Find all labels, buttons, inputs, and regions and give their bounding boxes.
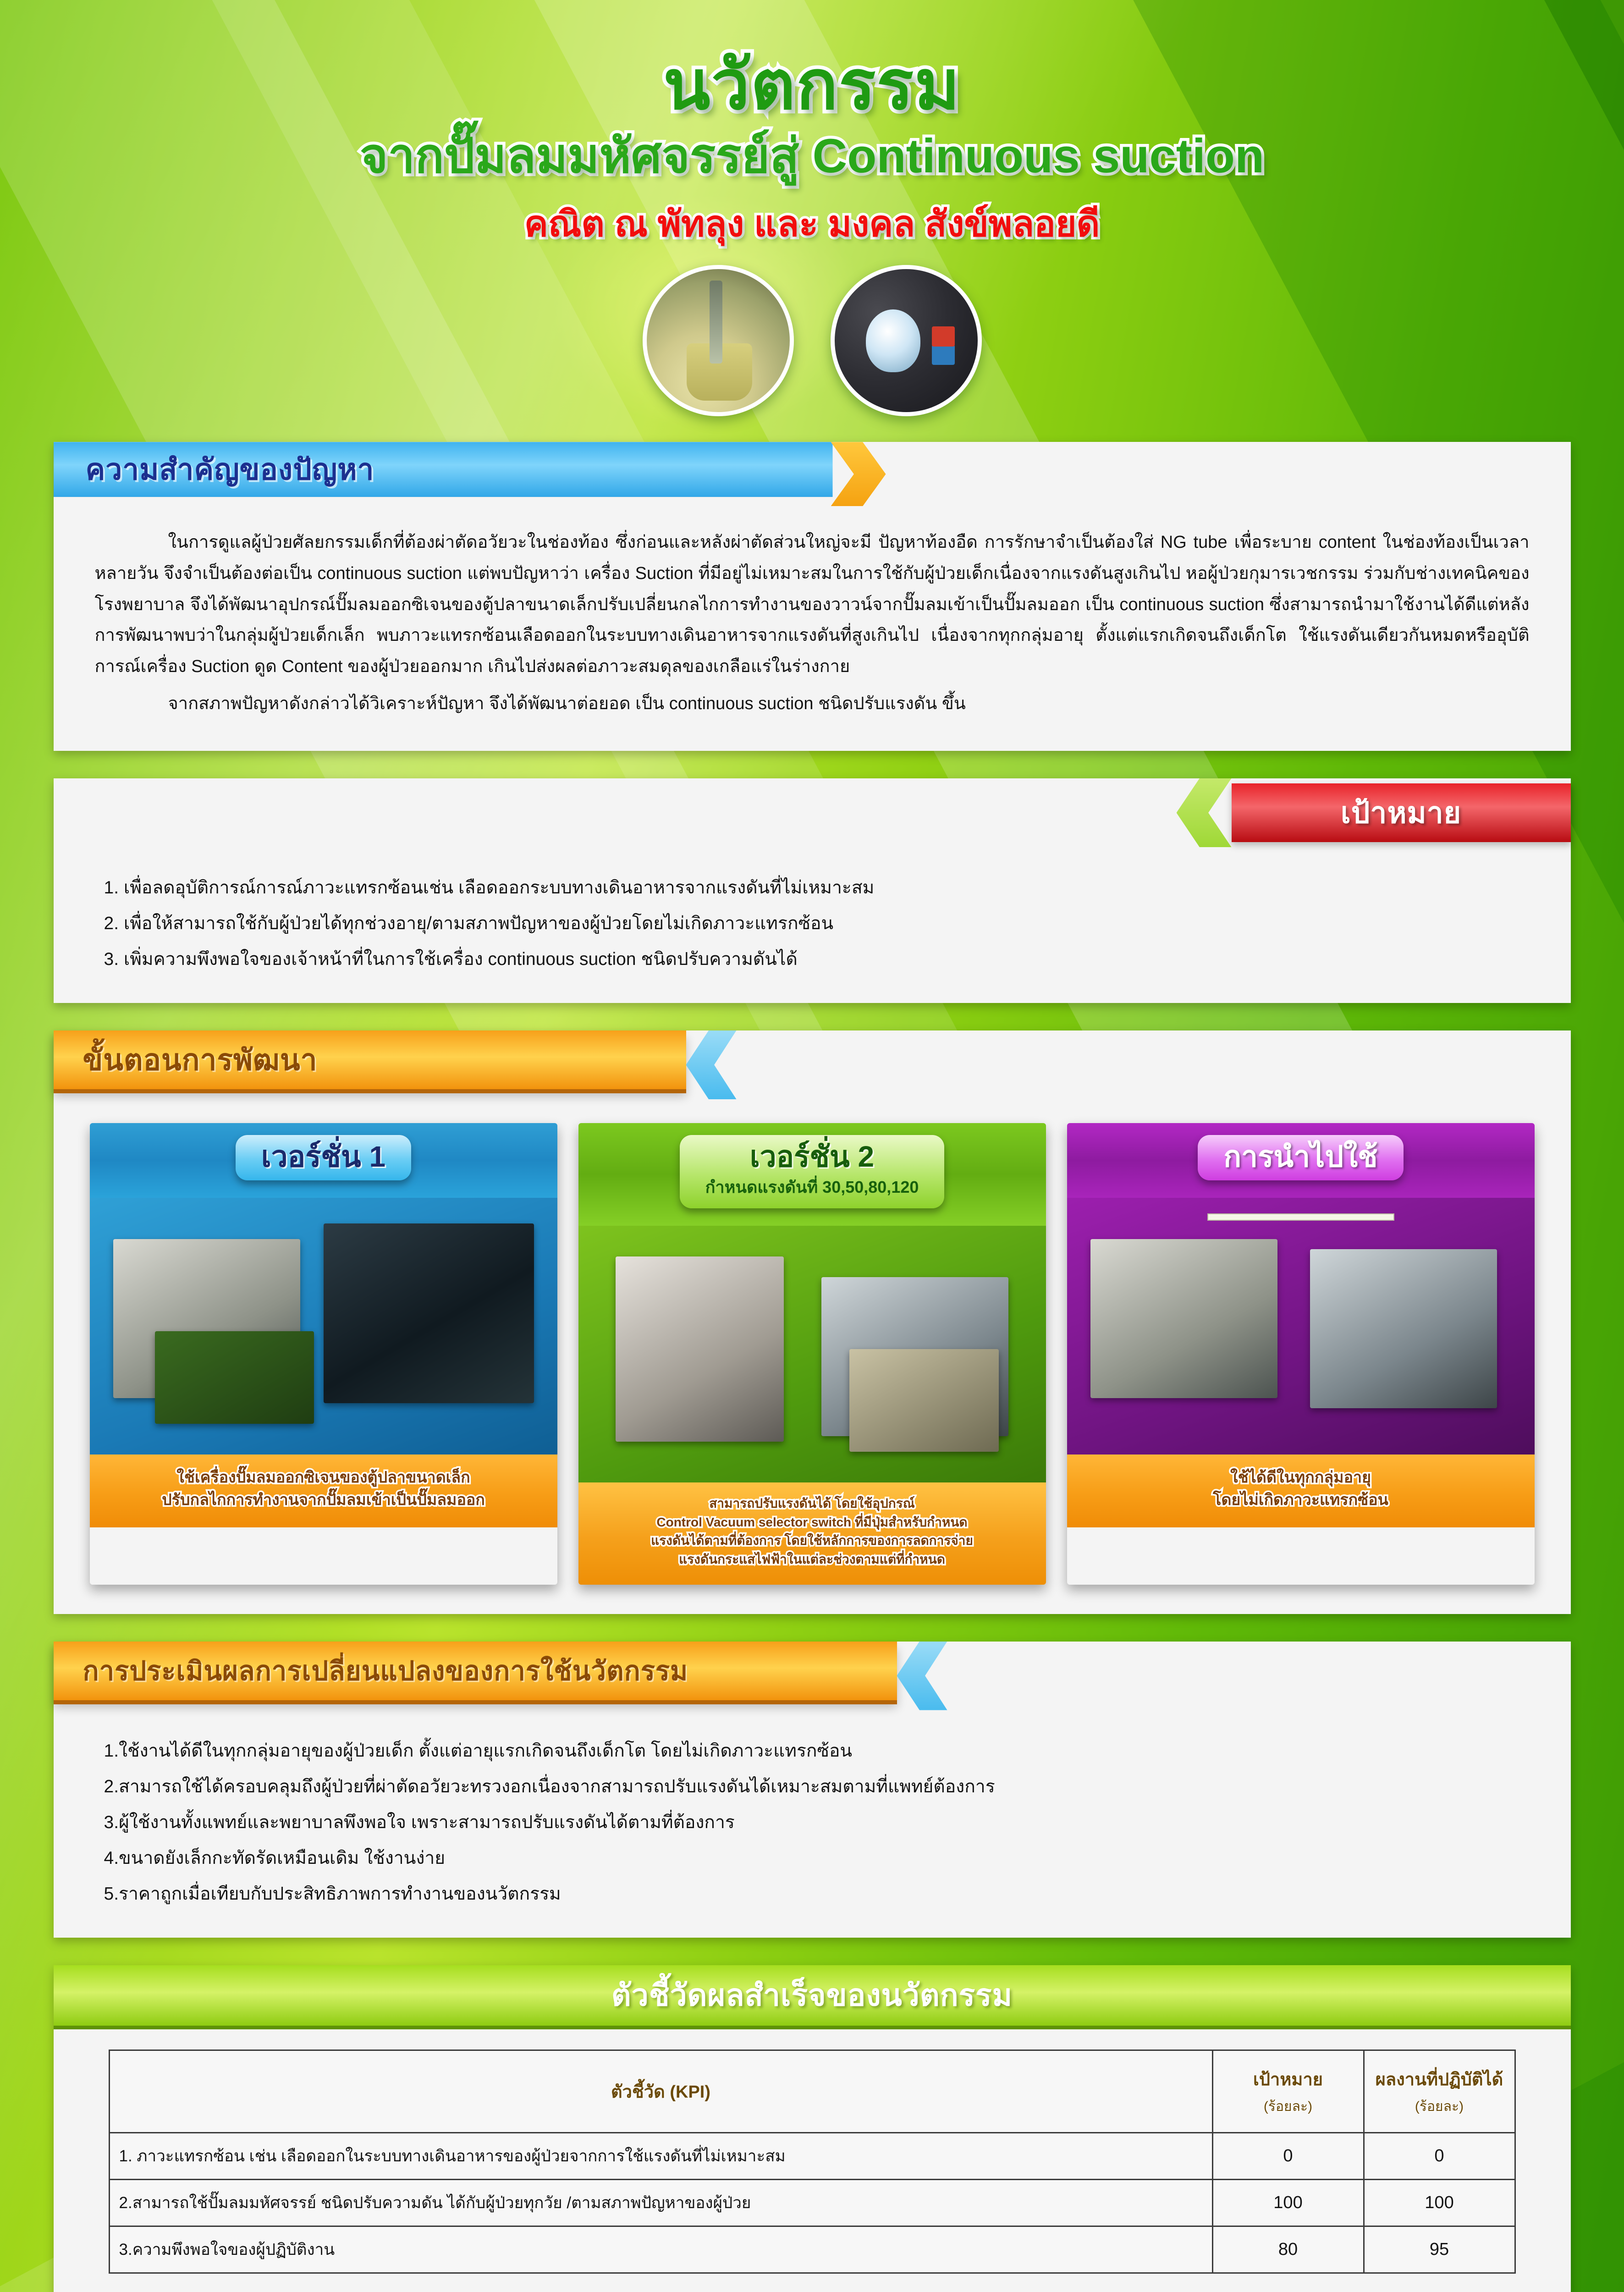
kpi-table-wrap: ตัวชี้วัด (KPI) เป้าหมาย (ร้อยละ) ผลงานท… [54, 2026, 1571, 2292]
development-card: เวอร์ชั่น 1 ใช้เครื่องปั๊มลมออกซิเจนของต… [90, 1123, 557, 1585]
evaluation-item: 4.ขนาดยังเล็กกะทัดรัดเหมือนเดิม ใช้งานง่… [104, 1840, 1525, 1876]
section-kpi: ตัวชี้วัดผลสำเร็จของนวัตกรรม ตัวชี้วัด (… [54, 1965, 1571, 2292]
goal-list: 1. เพื่อลดอุบัติการณ์การณ์ภาวะแทรกซ้อนเช… [54, 847, 1571, 1003]
card-title: เวอร์ชั่น 1 [261, 1141, 385, 1172]
problem-header-label: ความสำคัญของปัญหา [86, 446, 374, 493]
goal-header-label: เป้าหมาย [1341, 789, 1461, 836]
kpi-header-row: ตัวชี้วัด (KPI) เป้าหมาย (ร้อยละ) ผลงานท… [109, 2050, 1515, 2132]
card-caption-text: ใช้ได้ดีในทุกกลุ่มอายุ โดยไม่เกิดภาวะแทร… [1081, 1466, 1521, 1512]
poster-title-main: นวัตกรรม [0, 50, 1624, 119]
evaluation-list: 1.ใช้งานได้ดีในทุกกลุ่มอายุของผู้ป่วยเด็… [54, 1710, 1571, 1938]
kpi-table-head: ตัวชี้วัด (KPI) เป้าหมาย (ร้อยละ) ผลงานท… [109, 2050, 1515, 2132]
kpi-col-actual: ผลงานที่ปฏิบัติได้ (ร้อยละ) [1364, 2050, 1515, 2132]
problem-paragraph-2: จากสภาพปัญหาดังกล่าวได้วิเคราะห์ปัญหา จึ… [95, 689, 1530, 720]
card-title-pill: เวอร์ชั่น 2 กำหนดแรงดันที่ 30,50,80,120 [680, 1135, 945, 1208]
development-header-label: ขั้นตอนการพัฒนา [83, 1036, 318, 1083]
kpi-cell-actual: 95 [1364, 2226, 1515, 2273]
problem-header-banner: ความสำคัญของปัญหา [54, 442, 833, 497]
card-title: การนำไปใช้ [1223, 1141, 1377, 1172]
table-row: 3.ความพึงพอใจของผู้ปฏิบัติงาน 80 95 [109, 2226, 1515, 2273]
development-card: การนำไปใช้ ใช้ได้ดีในทุกกลุ่มอายุ โดยไม่… [1067, 1123, 1535, 1585]
poster-header: นวัตกรรม จากปั๊มลมมหัศจรรย์สู่ Continuou… [0, 0, 1624, 416]
poster-authors: คณิต ณ พัทลุง และ มงคล สังข์พลอยดี [0, 195, 1624, 252]
card-header: เวอร์ชั่น 2 กำหนดแรงดันที่ 30,50,80,120 [578, 1123, 1046, 1226]
chevron-left-icon [1177, 778, 1232, 847]
photo-element [1310, 1249, 1497, 1408]
development-header-banner: ขั้นตอนการพัฒนา [54, 1030, 686, 1089]
photo-element [616, 1256, 784, 1441]
chevron-right-icon [831, 442, 886, 506]
goal-item: 2. เพื่อให้สามารถใช้กับผู้ป่วยได้ทุกช่วง… [104, 906, 1525, 942]
card-title: เวอร์ชั่น 2 [705, 1141, 919, 1172]
kpi-table-body: 1. ภาวะแทรกซ้อน เช่น เลือดออกในระบบทางเด… [109, 2132, 1515, 2273]
kpi-cell-target: 80 [1212, 2226, 1364, 2273]
kpi-col-target: เป้าหมาย (ร้อยละ) [1212, 2050, 1364, 2132]
kpi-table: ตัวชี้วัด (KPI) เป้าหมาย (ร้อยละ) ผลงานท… [109, 2050, 1516, 2274]
evaluation-item: 2.สามารถใช้ได้ครอบคลุมถึงผู้ป่วยที่ผ่าตั… [104, 1769, 1525, 1805]
hero-photo-row [0, 265, 1624, 416]
section-development: ขั้นตอนการพัฒนา เวอร์ชั่น 1 ใช้เครื่อง [54, 1030, 1571, 1614]
kpi-cell-target: 100 [1212, 2179, 1364, 2226]
card-photo [1067, 1198, 1535, 1455]
photo-element [1090, 1239, 1277, 1398]
photo-device-panel [831, 265, 982, 416]
development-card-row: เวอร์ชั่น 1 ใช้เครื่องปั๊มลมออกซิเจนของต… [54, 1099, 1571, 1614]
card-photo [90, 1198, 557, 1455]
development-card: เวอร์ชั่น 2 กำหนดแรงดันที่ 30,50,80,120 … [578, 1123, 1046, 1585]
photo-element [155, 1331, 314, 1424]
photo-label-note [1207, 1213, 1394, 1221]
goal-header-row: เป้าหมาย [54, 778, 1571, 847]
poster-title-sub: จากปั๊มลมมหัศจรรย์สู่ Continuous suction [0, 131, 1624, 182]
card-subtitle: กำหนดแรงดันที่ 30,50,80,120 [705, 1174, 919, 1200]
section-evaluation: การประเมินผลการเปลี่ยนแปลงของการใช้นวัตก… [54, 1642, 1571, 1938]
section-goal: เป้าหมาย 1. เพื่อลดอุบัติการณ์การณ์ภาวะแ… [54, 778, 1571, 1003]
kpi-col-name: ตัวชี้วัด (KPI) [109, 2050, 1212, 2132]
kpi-cell-target: 0 [1212, 2132, 1364, 2179]
card-caption-text: ใช้เครื่องปั๊มลมออกซิเจนของตู้ปลาขนาดเล็… [104, 1466, 544, 1512]
card-caption: ใช้เครื่องปั๊มลมออกซิเจนของตู้ปลาขนาดเล็… [90, 1455, 557, 1527]
chevron-left-icon [897, 1642, 947, 1710]
chevron-left-icon [686, 1030, 737, 1099]
evaluation-item: 3.ผู้ใช้งานทั้งแพทย์และพยาบาลพึงพอใจ เพร… [104, 1805, 1525, 1840]
photo-element [849, 1349, 999, 1452]
goal-item: 3. เพิ่มความพึงพอใจของเจ้าหน้าที่ในการใช… [104, 942, 1525, 977]
card-caption: สามารถปรับแรงดันได้ โดยใช้อุปกรณ์ Contro… [578, 1482, 1046, 1584]
kpi-cell-name: 3.ความพึงพอใจของผู้ปฏิบัติงาน [109, 2226, 1212, 2273]
table-row: 2.สามารถใช้ปั๊มลมมหัศจรรย์ ชนิดปรับความด… [109, 2179, 1515, 2226]
card-header: การนำไปใช้ [1067, 1123, 1535, 1198]
photo-element [324, 1223, 534, 1403]
section-problem: ความสำคัญของปัญหา ในการดูแลผู้ป่วยศัลยกร… [54, 442, 1571, 751]
kpi-cell-actual: 100 [1364, 2179, 1515, 2226]
goal-header-banner: เป้าหมาย [1232, 783, 1571, 842]
card-photo [578, 1226, 1046, 1482]
card-title-pill: เวอร์ชั่น 1 [236, 1135, 411, 1180]
kpi-cell-name: 2.สามารถใช้ปั๊มลมมหัศจรรย์ ชนิดปรับความด… [109, 2179, 1212, 2226]
card-caption-text: สามารถปรับแรงดันได้ โดยใช้อุปกรณ์ Contro… [592, 1494, 1032, 1569]
card-title-pill: การนำไปใช้ [1198, 1135, 1403, 1180]
kpi-cell-actual: 0 [1364, 2132, 1515, 2179]
card-caption: ใช้ได้ดีในทุกกลุ่มอายุ โดยไม่เกิดภาวะแทร… [1067, 1455, 1535, 1527]
table-row: 1. ภาวะแทรกซ้อน เช่น เลือดออกในระบบทางเด… [109, 2132, 1515, 2179]
goal-item: 1. เพื่อลดอุบัติการณ์การณ์ภาวะแทรกซ้อนเช… [104, 870, 1525, 906]
photo-device-tube [643, 265, 794, 416]
evaluation-item: 5.ราคาถูกเมื่อเทียบกับประสิทธิภาพการทำงา… [104, 1876, 1525, 1912]
poster-page: นวัตกรรม จากปั๊มลมมหัศจรรย์สู่ Continuou… [0, 0, 1624, 2292]
evaluation-header-banner: การประเมินผลการเปลี่ยนแปลงของการใช้นวัตก… [54, 1642, 897, 1700]
card-header: เวอร์ชั่น 1 [90, 1123, 557, 1198]
kpi-cell-name: 1. ภาวะแทรกซ้อน เช่น เลือดออกในระบบทางเด… [109, 2132, 1212, 2179]
problem-body: ในการดูแลผู้ป่วยศัลยกรรมเด็กที่ต้องผ่าตั… [54, 506, 1571, 751]
kpi-header-label: ตัวชี้วัดผลสำเร็จของนวัตกรรม [611, 1971, 1013, 2019]
problem-paragraph-1: ในการดูแลผู้ป่วยศัลยกรรมเด็กที่ต้องผ่าตั… [95, 527, 1530, 682]
evaluation-item: 1.ใช้งานได้ดีในทุกกลุ่มอายุของผู้ป่วยเด็… [104, 1733, 1525, 1769]
kpi-header-banner: ตัวชี้วัดผลสำเร็จของนวัตกรรม [54, 1965, 1571, 2026]
evaluation-header-label: การประเมินผลการเปลี่ยนแปลงของการใช้นวัตก… [83, 1649, 688, 1692]
